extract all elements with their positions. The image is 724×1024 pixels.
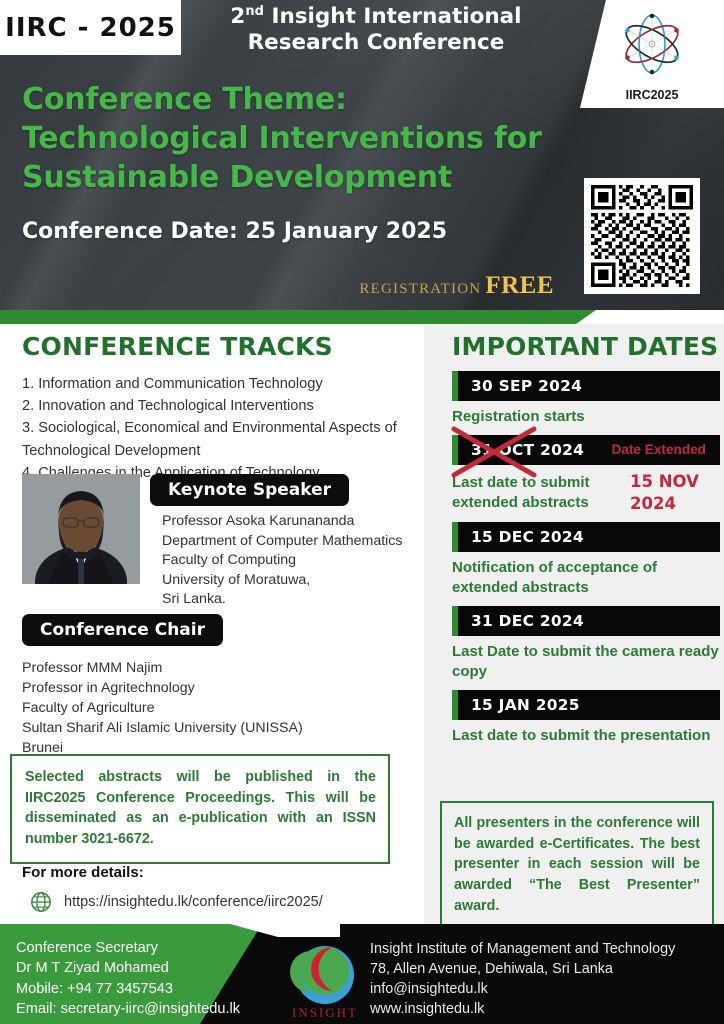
date-description-row: Last date to submit extended abstracts 1… <box>452 471 720 515</box>
keynote-speaker-photo <box>22 474 140 584</box>
date-value: 31 DEC 2024 <box>471 612 584 630</box>
poster-body: CONFERENCE TRACKS 1. Information and Com… <box>0 324 724 924</box>
keynote-faculty: Faculty of Computing <box>162 551 403 571</box>
date-description: Last date to submit the presentation <box>452 726 720 746</box>
registration-label: REGISTRATION <box>359 281 481 297</box>
date-bar: 31 DEC 2024 <box>452 606 720 636</box>
date-item: 15 DEC 2024 Notification of acceptance o… <box>452 522 720 598</box>
conference-poster: IIRC - 2025 2nd Insight International Re… <box>0 0 724 1024</box>
chair-university: Sultan Sharif Ali Islamic University (UN… <box>22 718 303 738</box>
secretary-email: Email: secretary-iirc@insightedu.lk <box>16 999 240 1019</box>
organization-website[interactable]: www.insightedu.lk <box>370 999 675 1019</box>
keynote-university: University of Moratuwa, <box>162 571 403 591</box>
conference-date: Conference Date: 25 January 2025 <box>22 219 447 244</box>
date-bar: 15 DEC 2024 <box>452 522 720 552</box>
track-item: 2. Innovation and Technological Interven… <box>22 395 422 417</box>
keynote-country: Sri Lanka. <box>162 590 403 610</box>
iirc-badge-label: IIRC - 2025 <box>5 13 176 43</box>
poster-header: IIRC - 2025 2nd Insight International Re… <box>0 0 724 310</box>
secretary-mobile: Mobile: +94 77 3457543 <box>16 979 240 999</box>
conference-tracks-section: CONFERENCE TRACKS 1. Information and Com… <box>22 332 422 484</box>
track-item: 1. Information and Communication Technol… <box>22 373 422 395</box>
chair-name: Professor MMM Najim <box>22 658 303 678</box>
title-superscript: nd <box>245 4 264 19</box>
insight-logo-icon: INSIGHT <box>281 941 369 1021</box>
conference-theme: Conference Theme: Technological Interven… <box>22 80 542 197</box>
qr-code-icon <box>591 185 693 287</box>
chair-faculty: Faculty of Agriculture <box>22 698 303 718</box>
more-details-label: For more details: <box>22 864 323 881</box>
date-bar: 30 SEP 2024 <box>452 371 720 401</box>
speaker-portrait-image <box>22 474 140 584</box>
date-description: Last Date to submit the camera ready cop… <box>452 642 720 682</box>
date-extended-new-value: 15 NOV 2024 <box>630 471 720 515</box>
date-value: 31 OCT 2024 <box>471 441 584 459</box>
date-value: 15 JAN 2025 <box>471 696 580 714</box>
website-url-row[interactable]: https://insightedu.lk/conference/iirc202… <box>30 891 323 913</box>
important-dates-section: IMPORTANT DATES 30 SEP 2024 Registration… <box>452 332 720 753</box>
atom-logo-icon <box>616 8 688 80</box>
conference-secretary-block: Conference Secretary Dr M T Ziyad Mohame… <box>16 938 240 1019</box>
keynote-name: Professor Asoka Karunananda <box>162 512 403 532</box>
theme-line-2: Technological Interventions for <box>22 119 542 158</box>
date-value: 30 SEP 2024 <box>471 377 582 395</box>
iirc-badge: IIRC - 2025 <box>0 0 181 55</box>
date-description: Last date to submit extended abstracts <box>452 473 622 513</box>
logo-caption: IIRC2025 <box>580 88 724 102</box>
conference-tracks-list: 1. Information and Communication Technol… <box>22 373 422 484</box>
website-url[interactable]: https://insightedu.lk/conference/iirc202… <box>64 894 323 910</box>
registration-free: REGISTRATION FREE <box>0 272 554 300</box>
conference-tracks-heading: CONFERENCE TRACKS <box>22 332 422 361</box>
publication-note-box: Selected abstracts will be published in … <box>10 754 390 864</box>
registration-value: FREE <box>485 272 554 299</box>
secretary-title: Conference Secretary <box>16 938 240 958</box>
conference-full-title: 2nd Insight International Research Confe… <box>186 4 566 55</box>
track-item: 3. Sociological, Economical and Environm… <box>22 417 422 461</box>
header-divider-bar <box>0 310 724 324</box>
insight-wordmark: INSIGHT <box>292 1005 358 1020</box>
keynote-speaker-details: Professor Asoka Karunananda Department o… <box>162 512 403 610</box>
organization-email: info@insightedu.lk <box>370 979 675 999</box>
date-item: 30 SEP 2024 Registration starts <box>452 371 720 427</box>
conference-chair-label: Conference Chair <box>22 614 223 646</box>
date-description: Registration starts <box>452 407 720 427</box>
conference-chair-pill: Conference Chair <box>22 614 223 646</box>
date-item: 31 DEC 2024 Last Date to submit the came… <box>452 606 720 682</box>
organization-address: 78, Allen Avenue, Dehiwala, Sri Lanka <box>370 959 675 979</box>
organization-block: Insight Institute of Management and Tech… <box>370 939 675 1020</box>
keynote-speaker-pill: Keynote Speaker <box>150 474 349 506</box>
globe-icon <box>30 891 52 913</box>
award-note-box: All presenters in the conference will be… <box>440 801 714 930</box>
qr-code[interactable] <box>584 178 700 294</box>
title-rest: Insight International Research Conferenc… <box>248 4 522 54</box>
keynote-speaker-label: Keynote Speaker <box>150 474 349 506</box>
date-description: Notification of acceptance of extended a… <box>452 558 720 598</box>
date-item: 31 OCT 2024 Date Extended Last date to s… <box>452 435 720 515</box>
title-prefix: 2 <box>230 4 245 29</box>
date-bar: 31 OCT 2024 Date Extended <box>452 435 720 465</box>
conference-chair-details: Professor MMM Najim Professor in Agritec… <box>22 658 303 758</box>
date-value: 15 DEC 2024 <box>471 528 584 546</box>
date-extended-badge: Date Extended <box>612 442 706 457</box>
theme-line-3: Sustainable Development <box>22 158 542 197</box>
date-item: 15 JAN 2025 Last date to submit the pres… <box>452 690 720 746</box>
important-dates-heading: IMPORTANT DATES <box>452 332 720 361</box>
organization-name: Insight Institute of Management and Tech… <box>370 939 675 959</box>
secretary-name: Dr M T Ziyad Mohamed <box>16 958 240 978</box>
date-bar: 15 JAN 2025 <box>452 690 720 720</box>
more-details-section: For more details: https://insightedu.lk/… <box>22 864 323 913</box>
keynote-department: Department of Computer Mathematics <box>162 532 403 552</box>
theme-line-1: Conference Theme: <box>22 80 542 119</box>
chair-role: Professor in Agritechnology <box>22 678 303 698</box>
